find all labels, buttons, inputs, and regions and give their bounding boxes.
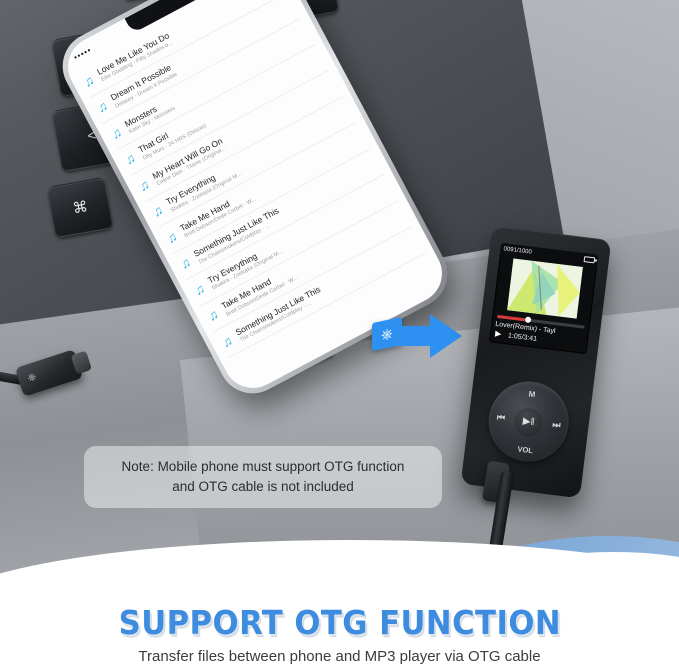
- play-pause-button[interactable]: ▶‖: [512, 405, 545, 438]
- headline: SUPPORT OTG FUNCTION: [118, 603, 560, 642]
- key-command: ⌘: [47, 177, 113, 238]
- signal-dots-icon: •••••: [72, 45, 93, 62]
- music-note-icon: ♫: [150, 203, 165, 219]
- note-line-1: Note: Mobile phone must support OTG func…: [122, 457, 405, 477]
- music-note-icon: ♫: [206, 307, 221, 323]
- otg-note-callout: Note: Mobile phone must support OTG func…: [84, 446, 442, 508]
- next-button[interactable]: ⏭: [552, 419, 561, 431]
- usb-icon: ⎈: [26, 370, 38, 385]
- music-note-icon: ♫: [95, 99, 110, 115]
- playback-time-label: 1:05/3:41: [508, 332, 538, 343]
- volume-button[interactable]: VOL: [517, 444, 533, 455]
- subheadline: Transfer files between phone and MP3 pla…: [138, 648, 540, 665]
- track-counter-label: 0091/1000: [503, 246, 532, 255]
- note-line-2: and OTG cable is not included: [172, 477, 354, 497]
- music-note-icon: ♫: [220, 333, 235, 349]
- mp3-player-screen: 0091/1000: [489, 243, 598, 354]
- battery-icon: [584, 256, 596, 263]
- previous-button[interactable]: ⏮: [496, 412, 505, 424]
- album-art: [507, 258, 583, 318]
- music-note-icon: ♫: [81, 73, 96, 89]
- transfer-arrow-group: ⎈: [372, 312, 482, 368]
- footer-banner: SUPPORT OTG FUNCTION Transfer files betw…: [0, 598, 679, 669]
- key-label: ⌘: [71, 197, 89, 217]
- music-note-icon: ♫: [164, 229, 179, 245]
- control-wheel[interactable]: M ⏮ ⏭ VOL ▶‖: [484, 377, 573, 466]
- music-note-icon: ♫: [123, 151, 138, 167]
- music-note-icon: ♫: [109, 125, 124, 141]
- menu-button[interactable]: M: [528, 389, 536, 399]
- product-marketing-image: K L < ⌘ 🔊 F12 ⏻ enter return shift ▶: [0, 0, 679, 669]
- play-state-icon: ▶: [495, 330, 502, 339]
- music-note-icon: ♫: [137, 177, 152, 193]
- product-photo: K L < ⌘ 🔊 F12 ⏻ enter return shift ▶: [0, 0, 679, 600]
- music-note-icon: ♫: [192, 281, 207, 297]
- music-note-icon: ♫: [178, 255, 193, 271]
